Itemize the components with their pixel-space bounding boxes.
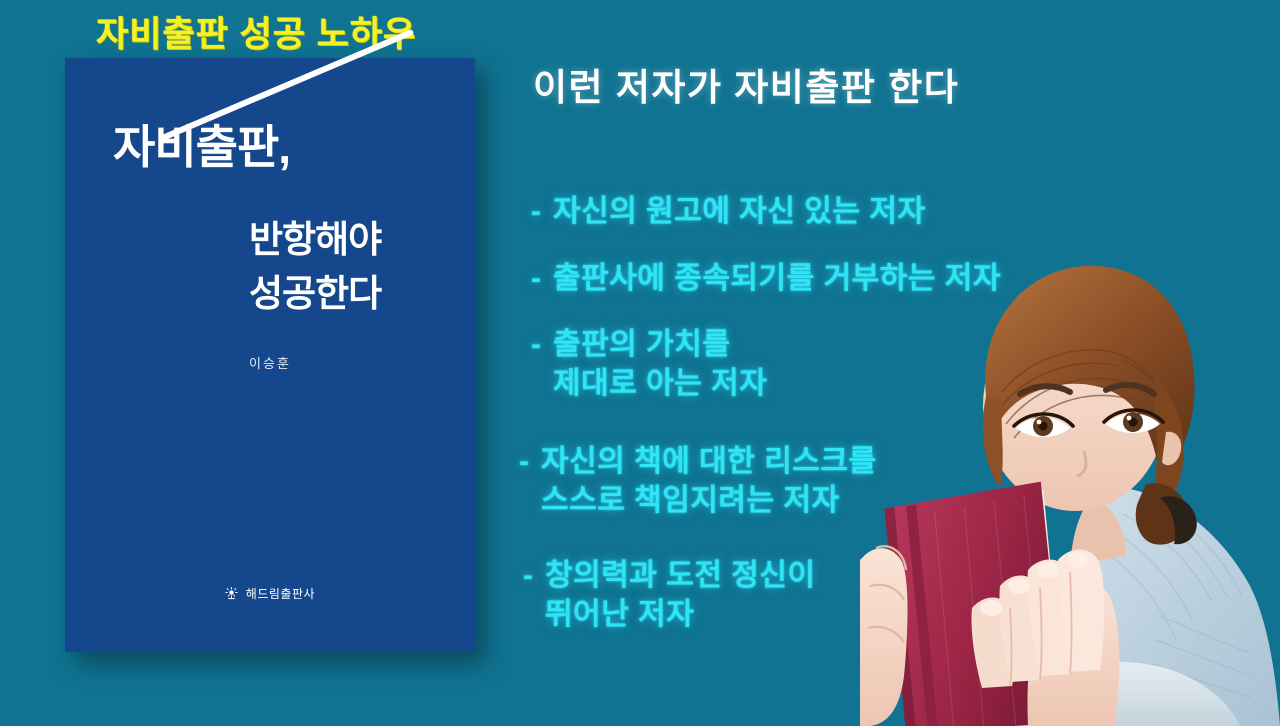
book-cover: 자비출판, 반항해야 성공한다 이승훈 (65, 58, 475, 652)
poster-canvas: 자비출판 성공 노하우 자비출판, 반항해야 성공한다 이승훈 (0, 0, 1280, 726)
bullet-dash: - (523, 557, 545, 595)
list-item: -자신의 책에 대한 리스크를 스스로 책임지려는 저자 (519, 405, 877, 520)
woman-holding-book-photo (860, 256, 1280, 726)
list-item-label: 자신의 책에 대한 리스크를 스스로 책임지려는 저자 (541, 443, 877, 520)
book-title-line-3: 성공한다 (249, 263, 381, 317)
sun-icon (225, 587, 238, 603)
publisher-imprint: 해드림출판사 (65, 585, 475, 603)
publisher-name: 해드림출판사 (246, 587, 315, 601)
book-title-line-2: 반항해야 (249, 218, 381, 262)
list-item: -자신의 원고에 자신 있는 저자 (531, 155, 926, 232)
bullet-dash: - (531, 326, 553, 364)
page-title: 이런 저자가 자비출판 한다 (533, 57, 959, 111)
list-item-label: 출판의 가치를 제대로 아는 저자 (553, 326, 767, 403)
bullet-dash: - (519, 443, 541, 481)
book-author-name: 이승훈 (65, 353, 475, 372)
list-item-label: 창의력과 도전 정신이 뛰어난 저자 (545, 557, 816, 634)
list-item: -출판의 가치를 제대로 아는 저자 (531, 288, 767, 403)
list-item: -창의력과 도전 정신이 뛰어난 저자 (523, 519, 816, 634)
